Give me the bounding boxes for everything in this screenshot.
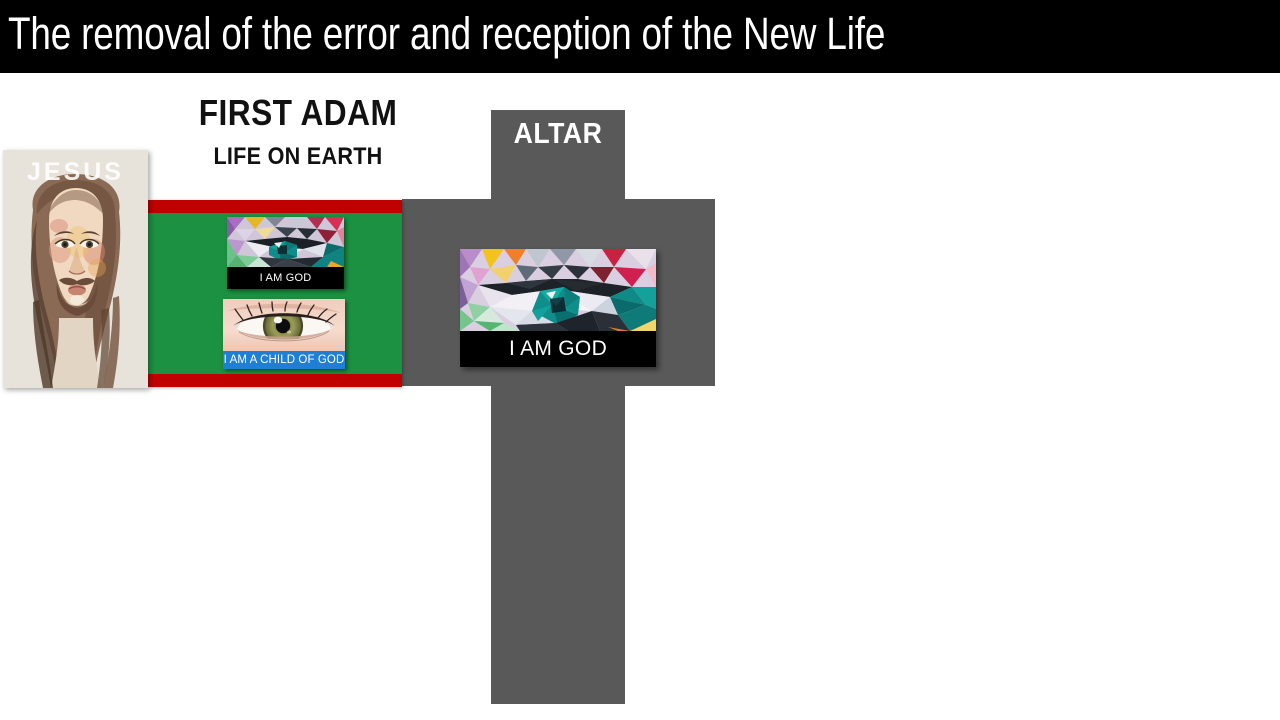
colorful-artistic-eye-image <box>227 217 344 267</box>
title-banner: The removal of the error and reception o… <box>0 0 1280 73</box>
panel-top-accent-bar <box>148 200 402 213</box>
first-adam-panel: I AM GOD <box>148 200 402 387</box>
colorful-eye-svg <box>227 217 344 267</box>
eye-card-i-am-a-child-of-god: I AM A CHILD OF GOD <box>223 299 345 369</box>
eye-card-caption-i-am-god: I AM GOD <box>227 267 344 289</box>
low-poly-eye-svg <box>460 249 656 331</box>
slide-title: The removal of the error and reception o… <box>8 6 885 62</box>
panel-bottom-accent-bar <box>148 374 402 387</box>
first-adam-heading: FIRST ADAM <box>166 92 430 134</box>
hazel-eye-svg <box>223 299 345 351</box>
jesus-portrait-card: JESUS <box>3 150 148 388</box>
low-poly-colorful-eye-image <box>460 249 656 331</box>
realistic-hazel-eye-image <box>223 299 345 351</box>
jesus-label: JESUS <box>3 158 148 187</box>
life-on-earth-subheading: LIFE ON EARTH <box>163 143 433 171</box>
altar-eye-card: I AM GOD <box>460 249 656 367</box>
eye-card-caption-i-am-a-child-of-god: I AM A CHILD OF GOD <box>223 351 345 369</box>
eye-card-i-am-god: I AM GOD <box>227 217 344 289</box>
altar-label: ALTAR <box>496 118 619 151</box>
altar-eye-caption: I AM GOD <box>460 331 656 367</box>
